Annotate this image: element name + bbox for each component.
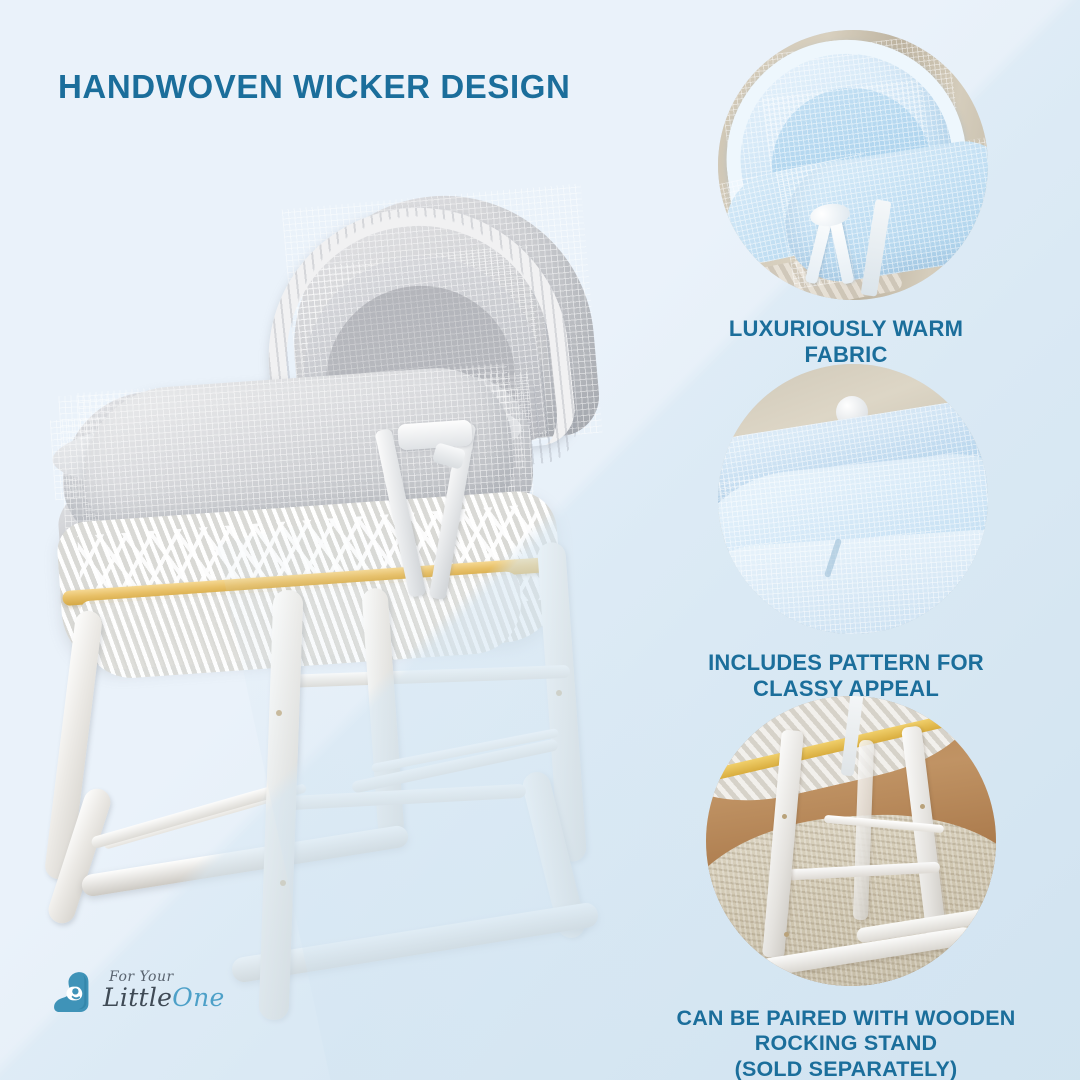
feature-image-waffle-pattern	[718, 364, 988, 634]
page-title: HANDWOVEN WICKER DESIGN	[58, 68, 570, 106]
feature-caption-3: CAN BE PAIRED WITH WOODEN ROCKING STAND …	[676, 1006, 1016, 1080]
feature-block-3: CAN BE PAIRED WITH WOODEN ROCKING STAND …	[676, 696, 1016, 1080]
brand-logo: For Your LittleOne	[52, 968, 225, 1012]
logo-word-little: Little	[103, 983, 172, 1012]
stand-screw	[556, 690, 562, 696]
feature-image-luxurious-fabric	[718, 30, 988, 300]
infographic-canvas: HANDWOVEN WICKER DESIGN LUXURIOUSLY WARM…	[0, 0, 1080, 1080]
logo-word-one: One	[172, 983, 224, 1012]
mother-and-baby-icon	[52, 968, 96, 1012]
logo-line-little-one: LittleOne	[103, 985, 225, 1010]
feature-block-1: LUXURIOUSLY WARM FABRIC	[676, 30, 1016, 368]
logo-line-for-your: For Your	[109, 970, 225, 984]
stand-screw	[276, 710, 282, 716]
main-product-image	[40, 190, 640, 990]
feature-caption-3-line-2: ROCKING STAND	[676, 1031, 1016, 1056]
feature-block-2: INCLUDES PATTERN FOR CLASSY APPEAL	[676, 364, 1016, 702]
stand-rail-top	[280, 665, 570, 688]
stand-rail-left	[90, 783, 286, 850]
feature-caption-1-line-1: LUXURIOUSLY WARM	[676, 316, 1016, 342]
feature-caption-2-line-1: INCLUDES PATTERN FOR	[676, 650, 1016, 676]
feature-caption-2: INCLUDES PATTERN FOR CLASSY APPEAL	[676, 650, 1016, 702]
stand-screw	[280, 880, 286, 886]
feature-caption-1: LUXURIOUSLY WARM FABRIC	[676, 316, 1016, 368]
stand-rail-bottom	[286, 784, 526, 811]
feature-image-rocking-stand	[706, 696, 996, 986]
feature-caption-3-line-1: CAN BE PAIRED WITH WOODEN	[676, 1006, 1016, 1031]
feature-caption-3-line-3: (SOLD SEPARATELY)	[676, 1057, 1016, 1080]
handle-buckle	[397, 419, 473, 450]
logo-wordmark: For Your LittleOne	[103, 970, 225, 1010]
